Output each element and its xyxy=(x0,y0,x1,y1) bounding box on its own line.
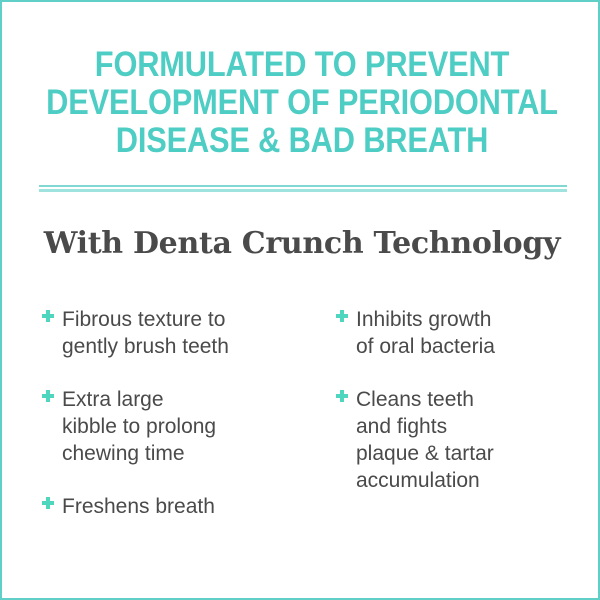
title-line-2: DEVELOPMENT OF PERIODONTAL xyxy=(38,84,566,122)
plus-icon xyxy=(40,386,56,408)
list-item-label: Extra large kibble to prolong chewing ti… xyxy=(62,386,216,467)
feature-column-left: Fibrous texture to gently brush teeth Ex… xyxy=(40,306,320,546)
list-item: Extra large kibble to prolong chewing ti… xyxy=(40,386,320,467)
list-item-label: Fibrous texture to gently brush teeth xyxy=(62,306,229,360)
product-feature-panel: FORMULATED TO PREVENT DEVELOPMENT OF PER… xyxy=(0,0,600,600)
title-line-3: DISEASE & BAD BREATH xyxy=(38,122,566,160)
plus-icon xyxy=(334,306,350,328)
section-divider xyxy=(39,185,567,192)
list-item-label: Freshens breath xyxy=(62,493,215,520)
divider-rule-thick xyxy=(39,189,567,192)
title-line-1: FORMULATED TO PREVENT xyxy=(38,46,566,84)
list-item-label: Inhibits growth of oral bacteria xyxy=(356,306,495,360)
list-item: Freshens breath xyxy=(40,493,320,520)
list-item: Fibrous texture to gently brush teeth xyxy=(40,306,320,360)
subtitle: With Denta Crunch Technology xyxy=(2,224,600,264)
plus-icon xyxy=(40,493,56,515)
feature-column-right: Inhibits growth of oral bacteria Cleans … xyxy=(334,306,584,520)
list-item-label: Cleans teeth and fights plaque & tartar … xyxy=(356,386,494,494)
list-item: Cleans teeth and fights plaque & tartar … xyxy=(334,386,584,494)
plus-icon xyxy=(334,386,350,408)
feature-columns: Fibrous texture to gently brush teeth Ex… xyxy=(2,306,600,571)
list-item: Inhibits growth of oral bacteria xyxy=(334,306,584,360)
divider-rule-thin xyxy=(39,185,567,187)
page-title: FORMULATED TO PREVENT DEVELOPMENT OF PER… xyxy=(2,46,600,160)
plus-icon xyxy=(40,306,56,328)
